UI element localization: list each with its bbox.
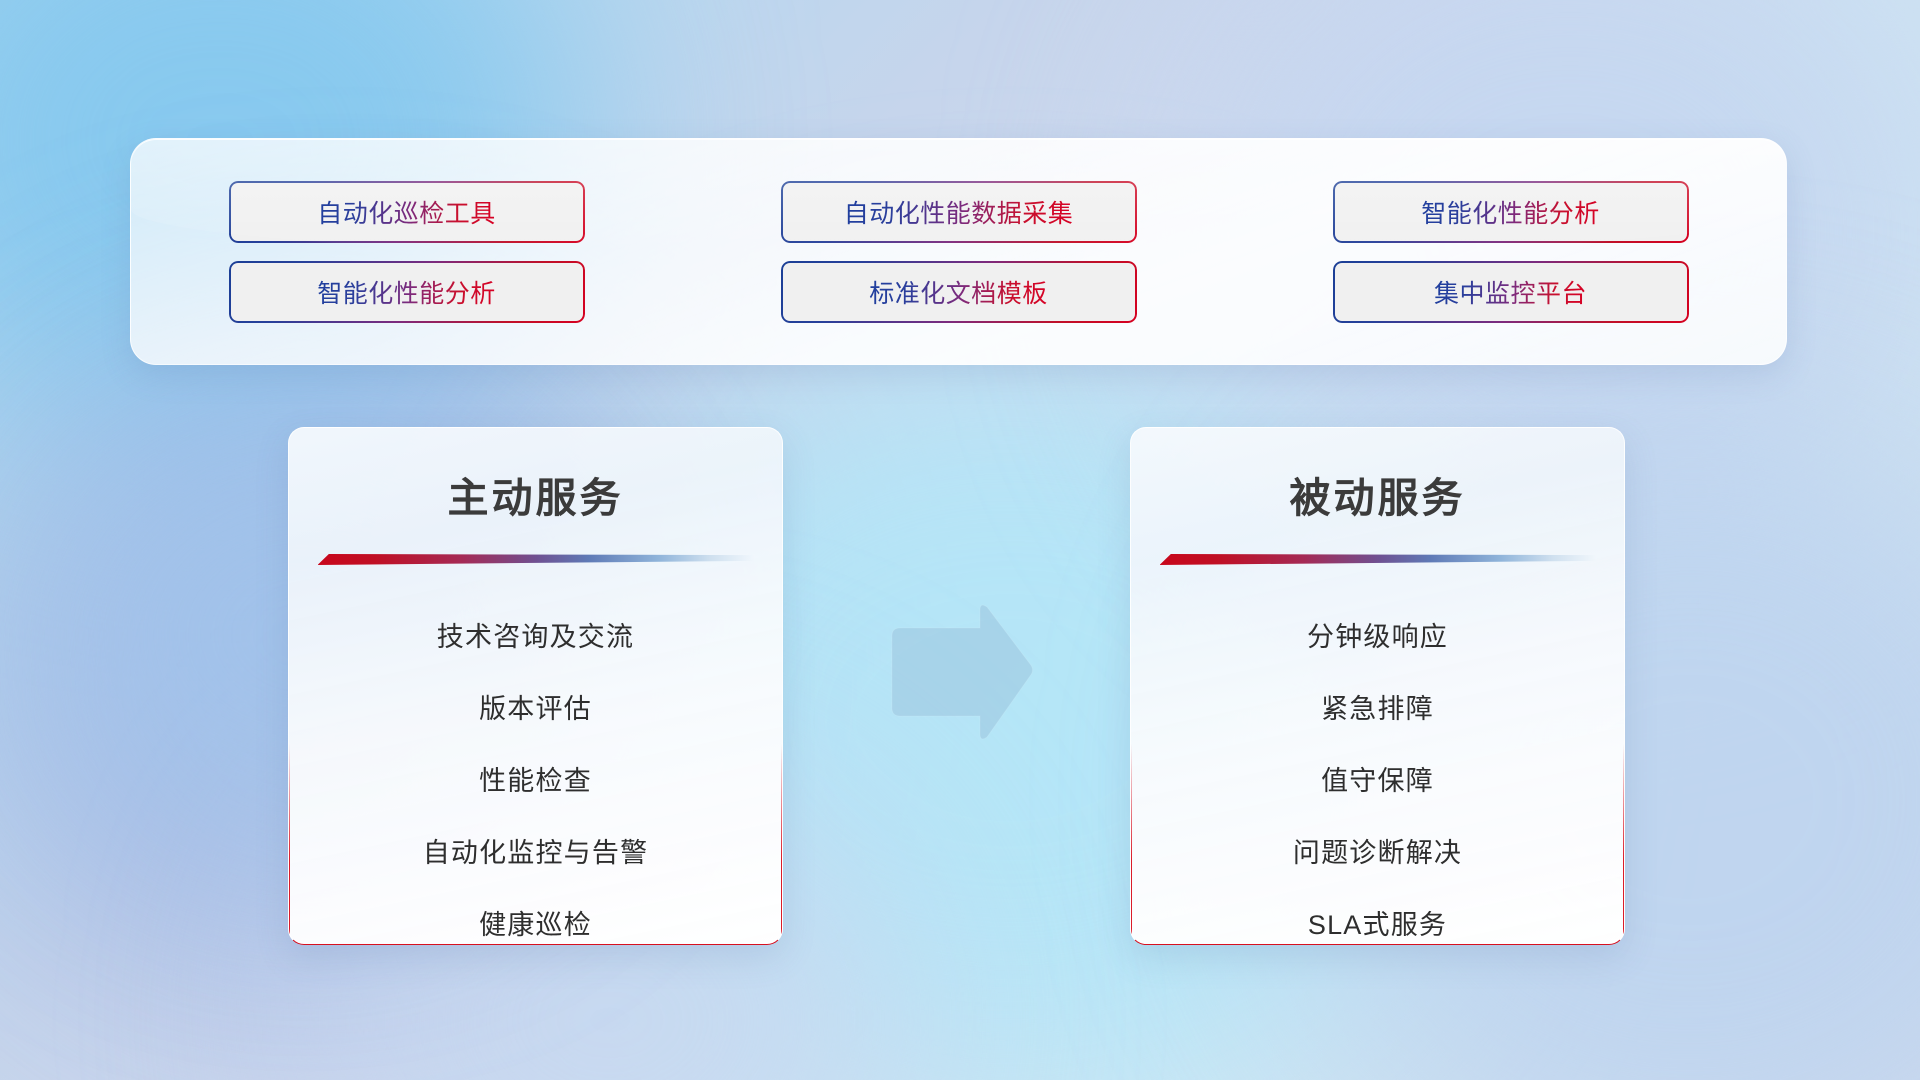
list-item[interactable]: 健康巡检 xyxy=(479,889,592,945)
list-item[interactable]: 版本评估 xyxy=(479,673,592,745)
card-title-divider xyxy=(1160,554,1596,565)
tag-label: 标准化文档模板 xyxy=(869,274,1048,310)
gradient-divider-bar xyxy=(318,554,754,565)
tag-label: 自动化性能数据采集 xyxy=(844,194,1074,230)
tag-row-2: 智能化性能分析 标准化文档模板 集中监控平台 xyxy=(131,261,1786,323)
capability-tag-panel: 自动化巡检工具 自动化性能数据采集 智能化性能分析 智能化性能分析 标准化文档模… xyxy=(130,138,1787,365)
card-title: 被动服务 xyxy=(1131,464,1624,524)
list-item[interactable]: SLA式服务 xyxy=(1308,889,1447,945)
card-item-list: 技术咨询及交流 版本评估 性能检查 自动化监控与告警 健康巡检 xyxy=(289,601,782,945)
tag-intelligent-performance-analysis-2[interactable]: 智能化性能分析 xyxy=(229,261,585,323)
card-proactive-service[interactable]: 主动服务 技术咨询及交流 版本评估 性能检查 自动化监控与告警 健康巡检 xyxy=(288,427,783,945)
card-title-divider xyxy=(318,554,754,565)
list-item[interactable]: 值守保障 xyxy=(1321,745,1434,817)
tag-row-1: 自动化巡检工具 自动化性能数据采集 智能化性能分析 xyxy=(131,181,1786,243)
list-item[interactable]: 性能检查 xyxy=(479,745,592,817)
tag-intelligent-performance-analysis-1[interactable]: 智能化性能分析 xyxy=(1333,181,1689,243)
list-item[interactable]: 问题诊断解决 xyxy=(1293,817,1462,889)
list-item[interactable]: 自动化监控与告警 xyxy=(423,817,649,889)
tag-label: 集中监控平台 xyxy=(1434,274,1587,310)
arrow-right-icon xyxy=(884,600,1036,744)
tag-label: 智能化性能分析 xyxy=(317,274,496,310)
card-title: 主动服务 xyxy=(289,464,782,524)
gradient-divider-bar xyxy=(1160,554,1596,565)
list-item[interactable]: 分钟级响应 xyxy=(1307,601,1448,673)
card-item-list: 分钟级响应 紧急排障 值守保障 问题诊断解决 SLA式服务 xyxy=(1131,601,1624,945)
list-item[interactable]: 紧急排障 xyxy=(1321,673,1434,745)
tag-automation-inspection-tool[interactable]: 自动化巡检工具 xyxy=(229,181,585,243)
tag-centralized-monitoring-platform[interactable]: 集中监控平台 xyxy=(1333,261,1689,323)
list-item[interactable]: 技术咨询及交流 xyxy=(437,601,634,673)
card-reactive-service[interactable]: 被动服务 分钟级响应 紧急排障 值守保障 问题诊断解决 SLA式服务 xyxy=(1130,427,1625,945)
tag-automated-performance-data-collection[interactable]: 自动化性能数据采集 xyxy=(781,181,1137,243)
tag-standardized-document-template[interactable]: 标准化文档模板 xyxy=(781,261,1137,323)
tag-label: 智能化性能分析 xyxy=(1421,194,1600,230)
tag-label: 自动化巡检工具 xyxy=(317,194,496,230)
